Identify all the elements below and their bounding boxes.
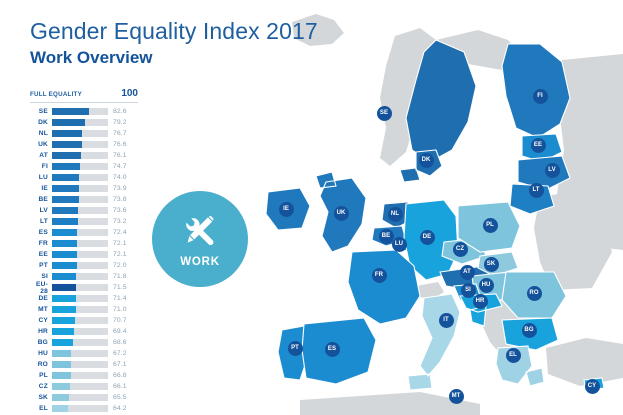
bar-country-code: EU-28 bbox=[30, 281, 52, 295]
bar-value-label: 73.9 bbox=[108, 185, 127, 192]
bar-value-label: 82.6 bbox=[108, 108, 127, 115]
bar-fill bbox=[52, 152, 81, 159]
bar-country-code: DE bbox=[30, 295, 52, 302]
bar-fill bbox=[52, 163, 80, 170]
bar-country-code: EE bbox=[30, 251, 52, 258]
map-badge-es: ES bbox=[325, 342, 340, 357]
bar-fill bbox=[52, 262, 77, 269]
bar-country-code: PL bbox=[30, 372, 52, 379]
map-badge-at: AT bbox=[460, 265, 475, 280]
bar-row: BG68.6 bbox=[30, 337, 138, 348]
bar-track bbox=[52, 218, 108, 225]
bar-track bbox=[52, 361, 108, 368]
map-badge-it: IT bbox=[439, 313, 454, 328]
map-country-FR bbox=[348, 250, 420, 324]
bar-country-code: AT bbox=[30, 152, 52, 159]
bar-fill bbox=[52, 405, 68, 412]
bar-value-label: 68.6 bbox=[108, 339, 127, 346]
map-badge-fi: FI bbox=[533, 89, 548, 104]
bar-fill bbox=[52, 251, 77, 258]
page-header: Gender Equality Index 2017 Work Overview bbox=[30, 18, 318, 68]
bar-fill bbox=[52, 196, 79, 203]
bar-country-code: FI bbox=[30, 163, 52, 170]
bar-fill bbox=[52, 284, 76, 291]
bar-track bbox=[52, 240, 108, 247]
bar-track bbox=[52, 394, 108, 401]
bar-track bbox=[52, 152, 108, 159]
bar-value-label: 73.2 bbox=[108, 218, 127, 225]
bar-row: EU-2871.5 bbox=[30, 282, 138, 293]
map-badge-lt: LT bbox=[529, 183, 544, 198]
bar-value-label: 70.7 bbox=[108, 317, 127, 324]
bar-row: DE71.4 bbox=[30, 293, 138, 304]
bar-value-label: 65.5 bbox=[108, 394, 127, 401]
map-badge-hu: HU bbox=[479, 278, 494, 293]
bar-fill bbox=[52, 273, 76, 280]
map-badge-ro: RO bbox=[527, 286, 542, 301]
map-badge-bg: BG bbox=[522, 323, 537, 338]
bar-row: AT76.1 bbox=[30, 150, 138, 161]
map-badge-el: EL bbox=[506, 348, 521, 363]
map-badge-se: SE bbox=[377, 106, 392, 121]
map-badge-ee: EE bbox=[531, 138, 546, 153]
bar-row: CY70.7 bbox=[30, 315, 138, 326]
bar-row: SK65.5 bbox=[30, 392, 138, 403]
bar-row: BE73.8 bbox=[30, 194, 138, 205]
page-subtitle: Work Overview bbox=[30, 48, 318, 68]
bar-value-label: 72.1 bbox=[108, 240, 127, 247]
bar-country-code: LT bbox=[30, 218, 52, 225]
country-ranking-chart: FULL EQUALITY 100 SE82.6DK79.2NL76.7UK76… bbox=[30, 88, 138, 415]
bar-row: HU67.2 bbox=[30, 348, 138, 359]
bar-fill bbox=[52, 141, 82, 148]
map-badge-fr: FR bbox=[372, 268, 387, 283]
map-badge-sk: SK bbox=[484, 257, 499, 272]
bar-track bbox=[52, 262, 108, 269]
bar-track bbox=[52, 130, 108, 137]
bar-country-code: IE bbox=[30, 185, 52, 192]
bar-country-code: UK bbox=[30, 141, 52, 148]
bar-value-label: 71.5 bbox=[108, 284, 127, 291]
bar-row: MT71.0 bbox=[30, 304, 138, 315]
bar-track bbox=[52, 229, 108, 236]
bar-country-code: DK bbox=[30, 119, 52, 126]
scale-top-label: FULL EQUALITY bbox=[30, 91, 82, 98]
bar-row: LU74.0 bbox=[30, 172, 138, 183]
bar-value-label: 66.1 bbox=[108, 383, 127, 390]
map-badge-pt: PT bbox=[288, 341, 303, 356]
bar-country-code: NL bbox=[30, 130, 52, 137]
bar-country-code: CY bbox=[30, 317, 52, 324]
bar-value-label: 67.1 bbox=[108, 361, 127, 368]
bar-track bbox=[52, 284, 108, 291]
bar-fill bbox=[52, 130, 82, 137]
map-badge-ie: IE bbox=[279, 202, 294, 217]
bar-value-label: 67.2 bbox=[108, 350, 127, 357]
bar-fill bbox=[52, 394, 69, 401]
bar-value-label: 72.0 bbox=[108, 262, 127, 269]
bar-country-code: HR bbox=[30, 328, 52, 335]
bar-country-code: SK bbox=[30, 394, 52, 401]
bar-fill bbox=[52, 119, 85, 126]
bar-value-label: 72.1 bbox=[108, 251, 127, 258]
bar-value-label: 79.2 bbox=[108, 119, 127, 126]
bar-country-code: FR bbox=[30, 240, 52, 247]
bar-value-label: 76.7 bbox=[108, 130, 127, 137]
bar-fill bbox=[52, 383, 70, 390]
bar-country-code: BE bbox=[30, 196, 52, 203]
bar-track bbox=[52, 174, 108, 181]
bar-country-code: CZ bbox=[30, 383, 52, 390]
map-badge-nl: NL bbox=[388, 207, 403, 222]
scale-full-equality: FULL EQUALITY 100 bbox=[30, 88, 138, 103]
bar-country-code: PT bbox=[30, 262, 52, 269]
bar-country-code: SI bbox=[30, 273, 52, 280]
bar-fill bbox=[52, 207, 78, 214]
bar-track bbox=[52, 317, 108, 324]
bar-country-code: BG bbox=[30, 339, 52, 346]
bar-track bbox=[52, 119, 108, 126]
infographic-canvas: SEFIEELVLTDKIEUKNLBELUDEFRPTESATCZPLSKHU… bbox=[0, 0, 623, 415]
bar-country-code: LV bbox=[30, 207, 52, 214]
bar-value-label: 71.8 bbox=[108, 273, 127, 280]
bar-track bbox=[52, 328, 108, 335]
bar-track bbox=[52, 163, 108, 170]
map-badge-lu: LU bbox=[392, 237, 407, 252]
bar-country-code: LU bbox=[30, 174, 52, 181]
wrench-pencil-icon bbox=[180, 213, 220, 253]
bar-row: RO67.1 bbox=[30, 359, 138, 370]
bar-row-list: SE82.6DK79.2NL76.7UK76.6AT76.1FI74.7LU74… bbox=[30, 106, 138, 415]
bar-fill bbox=[52, 174, 79, 181]
bar-row: EL64.2 bbox=[30, 403, 138, 414]
bar-fill bbox=[52, 328, 74, 335]
bar-row: ES72.4 bbox=[30, 227, 138, 238]
bar-value-label: 74.0 bbox=[108, 174, 127, 181]
bar-row: SE82.6 bbox=[30, 106, 138, 117]
bar-row: NL76.7 bbox=[30, 128, 138, 139]
bar-country-code: MT bbox=[30, 306, 52, 313]
work-domain-badge: WORK bbox=[152, 191, 248, 287]
bar-country-code: SE bbox=[30, 108, 52, 115]
bar-track bbox=[52, 383, 108, 390]
map-country-IT bbox=[408, 294, 460, 390]
bar-value-label: 71.0 bbox=[108, 306, 127, 313]
bar-fill bbox=[52, 240, 77, 247]
bar-row: HR69.4 bbox=[30, 326, 138, 337]
bar-track bbox=[52, 108, 108, 115]
bar-row: LV73.6 bbox=[30, 205, 138, 216]
page-title: Gender Equality Index 2017 bbox=[30, 18, 318, 44]
map-badge-be: BE bbox=[379, 229, 394, 244]
bar-value-label: 73.6 bbox=[108, 207, 127, 214]
map-badge-uk: UK bbox=[334, 206, 349, 221]
bar-track bbox=[52, 141, 108, 148]
bar-row: PT72.0 bbox=[30, 260, 138, 271]
bar-country-code: HU bbox=[30, 350, 52, 357]
bar-fill bbox=[52, 229, 77, 236]
bar-track bbox=[52, 405, 108, 412]
bar-row: PL66.8 bbox=[30, 370, 138, 381]
bar-row: IE73.9 bbox=[30, 183, 138, 194]
bar-row: CZ66.1 bbox=[30, 381, 138, 392]
bar-row: FI74.7 bbox=[30, 161, 138, 172]
bar-track bbox=[52, 372, 108, 379]
bar-track bbox=[52, 273, 108, 280]
bar-fill bbox=[52, 361, 71, 368]
bar-value-label: 64.2 bbox=[108, 405, 127, 412]
map-badge-de: DE bbox=[420, 230, 435, 245]
map-badge-mt: MT bbox=[449, 389, 464, 404]
bar-fill bbox=[52, 306, 76, 313]
bar-track bbox=[52, 295, 108, 302]
map-badge-dk: DK bbox=[419, 153, 434, 168]
bar-value-label: 69.4 bbox=[108, 328, 127, 335]
bar-fill bbox=[52, 317, 75, 324]
bar-row: UK76.6 bbox=[30, 139, 138, 150]
map-badge-si: SI bbox=[461, 283, 476, 298]
bar-value-label: 76.6 bbox=[108, 141, 127, 148]
bar-fill bbox=[52, 339, 73, 346]
bar-country-code: EL bbox=[30, 405, 52, 412]
work-badge-label: WORK bbox=[180, 256, 220, 268]
bar-value-label: 66.8 bbox=[108, 372, 127, 379]
bar-row: FR72.1 bbox=[30, 238, 138, 249]
bar-country-code: ES bbox=[30, 229, 52, 236]
map-badge-lv: LV bbox=[545, 163, 560, 178]
bar-track bbox=[52, 306, 108, 313]
bar-fill bbox=[52, 218, 78, 225]
bar-row: LT73.2 bbox=[30, 216, 138, 227]
bar-fill bbox=[52, 295, 76, 302]
bar-value-label: 71.4 bbox=[108, 295, 127, 302]
bar-row: DK79.2 bbox=[30, 117, 138, 128]
scale-top-value: 100 bbox=[121, 88, 138, 99]
bar-value-label: 74.7 bbox=[108, 163, 127, 170]
bar-fill bbox=[52, 185, 79, 192]
bar-fill bbox=[52, 108, 89, 115]
bar-value-label: 76.1 bbox=[108, 152, 127, 159]
map-badge-hr: HR bbox=[473, 294, 488, 309]
bar-row: EE72.1 bbox=[30, 249, 138, 260]
map-badge-cz: CZ bbox=[453, 242, 468, 257]
bar-fill bbox=[52, 372, 71, 379]
bar-track bbox=[52, 207, 108, 214]
bar-track bbox=[52, 251, 108, 258]
bar-value-label: 72.4 bbox=[108, 229, 127, 236]
bar-track bbox=[52, 339, 108, 346]
bar-country-code: RO bbox=[30, 361, 52, 368]
bar-track bbox=[52, 350, 108, 357]
bar-track bbox=[52, 196, 108, 203]
map-badge-cy: CY bbox=[585, 379, 600, 394]
bar-value-label: 73.8 bbox=[108, 196, 127, 203]
map-badge-pl: PL bbox=[483, 218, 498, 233]
bar-fill bbox=[52, 350, 71, 357]
bar-track bbox=[52, 185, 108, 192]
